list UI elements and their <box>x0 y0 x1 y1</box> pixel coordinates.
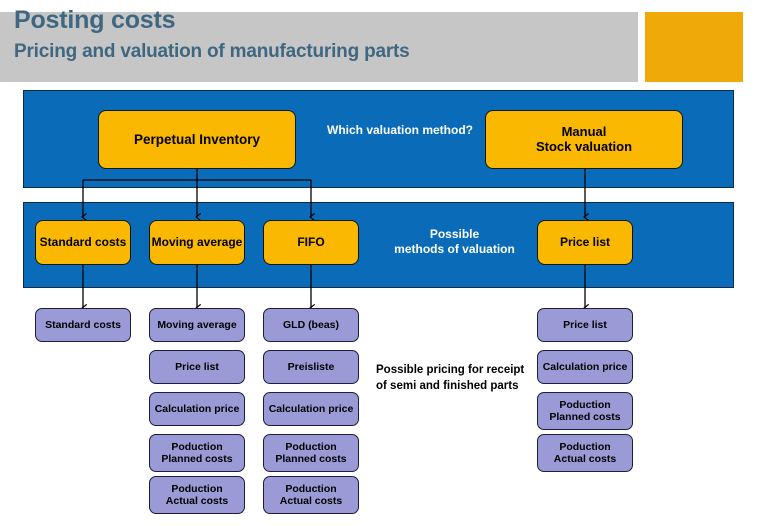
box-price-list-method[interactable]: Price list <box>537 220 633 265</box>
box-label-line1: Manual <box>562 125 607 140</box>
box-label-line1: Poduction <box>285 441 336 453</box>
label-possible-methods-of-valuation: Possible methods of valuation <box>382 227 527 257</box>
box-label: Perpetual Inventory <box>134 132 260 148</box>
page-subtitle: Pricing and valuation of manufacturing p… <box>14 41 410 63</box>
pricing-box[interactable]: Standard costs <box>35 308 131 342</box>
pricing-box[interactable]: Moving average <box>149 308 245 342</box>
pricing-box[interactable]: Preisliste <box>263 350 359 384</box>
box-label-line1: Calculation price <box>155 403 240 415</box>
note-line1: Possible pricing for receipt <box>376 363 536 379</box>
box-label-line2: Actual costs <box>166 495 228 507</box>
pricing-box[interactable]: PoductionPlanned costs <box>149 434 245 472</box>
box-label-line2: Planned costs <box>161 453 232 465</box>
box-label-line1: Standard costs <box>45 319 121 331</box>
box-label-line2: Planned costs <box>275 453 346 465</box>
pricing-box[interactable]: PoductionActual costs <box>537 434 633 472</box>
box-label-line1: Calculation price <box>269 403 354 415</box>
box-label-line1: Preisliste <box>288 361 335 373</box>
pricing-box[interactable]: PoductionActual costs <box>263 476 359 514</box>
pricing-box[interactable]: GLD (beas) <box>263 308 359 342</box>
pricing-box[interactable]: PoductionPlanned costs <box>263 434 359 472</box>
pricing-box[interactable]: Calculation price <box>149 392 245 426</box>
box-label: Moving average <box>152 236 243 250</box>
box-perpetual-inventory[interactable]: Perpetual Inventory <box>98 110 296 169</box>
box-label-line1: Calculation price <box>543 361 628 373</box>
note-line2: of semi and finished parts <box>376 379 536 395</box>
label-which-valuation-method: Which valuation method? <box>320 123 480 138</box>
box-label-line2: Planned costs <box>549 411 620 423</box>
box-label-line1: Poduction <box>171 441 222 453</box>
pricing-box[interactable]: Calculation price <box>263 392 359 426</box>
box-label: Price list <box>560 236 610 250</box>
pricing-box[interactable]: Price list <box>537 308 633 342</box>
box-label: Standard costs <box>40 236 127 250</box>
pricing-box[interactable]: Calculation price <box>537 350 633 384</box>
box-label-line2: Actual costs <box>554 453 616 465</box>
box-label-line1: Poduction <box>285 483 336 495</box>
box-label-line1: Price list <box>175 361 219 373</box>
box-label-line1: Poduction <box>171 483 222 495</box>
box-label-line1: Price list <box>563 319 607 331</box>
header-accent-block <box>645 12 743 82</box>
box-label-line1: GLD (beas) <box>283 319 339 331</box>
box-standard-costs[interactable]: Standard costs <box>35 220 131 265</box>
diagram-canvas: Posting costs Pricing and valuation of m… <box>0 0 763 526</box>
box-label-line1: Poduction <box>559 441 610 453</box>
label-line2: methods of valuation <box>382 242 527 257</box>
box-label-line1: Moving average <box>157 319 236 331</box>
pricing-box[interactable]: PoductionPlanned costs <box>537 392 633 430</box>
pricing-box[interactable]: PoductionActual costs <box>149 476 245 514</box>
page-title: Posting costs <box>14 6 175 35</box>
label-line1: Possible <box>382 227 527 242</box>
box-label: FIFO <box>297 236 324 250</box>
pricing-box[interactable]: Price list <box>149 350 245 384</box>
box-label-line2: Stock valuation <box>536 140 632 155</box>
box-manual-stock-valuation[interactable]: Manual Stock valuation <box>485 110 683 169</box>
box-label-line2: Actual costs <box>280 495 342 507</box>
box-fifo[interactable]: FIFO <box>263 220 359 265</box>
box-label-line1: Poduction <box>559 399 610 411</box>
box-moving-average[interactable]: Moving average <box>149 220 245 265</box>
note-possible-pricing: Possible pricing for receipt of semi and… <box>376 363 536 394</box>
